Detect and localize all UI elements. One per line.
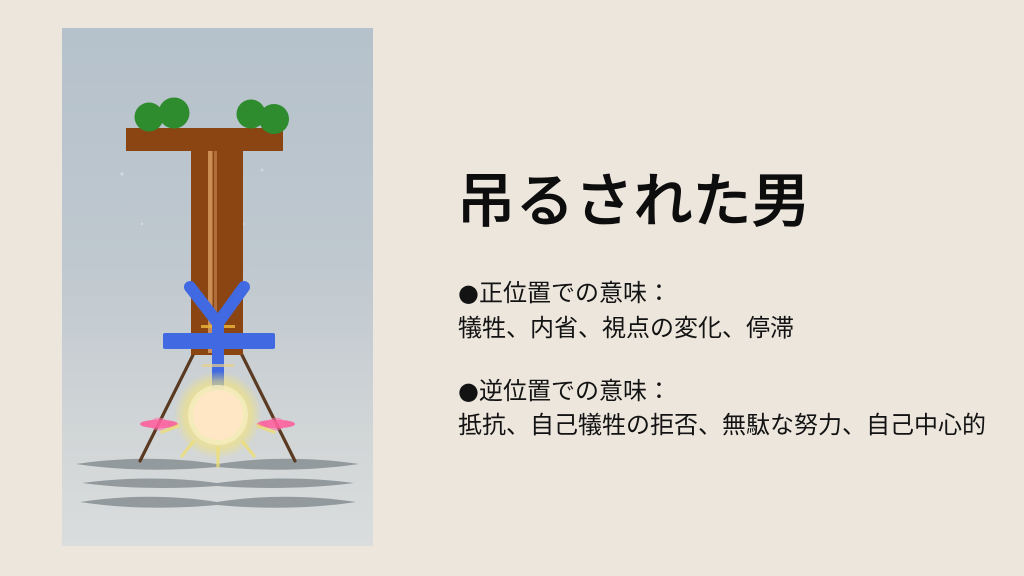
text-column: 吊るされた男 ●正位置での意味： 犠牲、内省、視点の変化、停滞 ●逆位置での意味… xyxy=(457,0,997,576)
slide-canvas: 吊るされた男 ●正位置での意味： 犠牲、内省、視点の変化、停滞 ●逆位置での意味… xyxy=(0,0,1024,576)
page-title: 吊るされた男 xyxy=(457,172,811,231)
reversed-meaning-heading: ●逆位置での意味： xyxy=(458,374,993,409)
hanged-man-illustration xyxy=(62,28,373,546)
reversed-meaning-body: 抵抗、自己犠牲の拒否、無駄な努力、自己中心的 xyxy=(458,408,993,443)
upright-meaning-heading: ●正位置での意味： xyxy=(458,276,993,311)
upright-meaning-body: 犠牲、内省、視点の変化、停滞 xyxy=(458,311,993,346)
gallows-structure xyxy=(126,128,283,355)
list-item: ●正位置での意味： 犠牲、内省、視点の変化、停滞 xyxy=(458,276,993,346)
meanings-list: ●正位置での意味： 犠牲、内省、視点の変化、停滞 ●逆位置での意味： 抵抗、自己… xyxy=(458,276,993,443)
tarot-card-image-panel[interactable] xyxy=(62,28,373,546)
hanged-figure xyxy=(162,287,275,466)
list-item: ●逆位置での意味： 抵抗、自己犠牲の拒否、無駄な努力、自己中心的 xyxy=(458,374,993,444)
